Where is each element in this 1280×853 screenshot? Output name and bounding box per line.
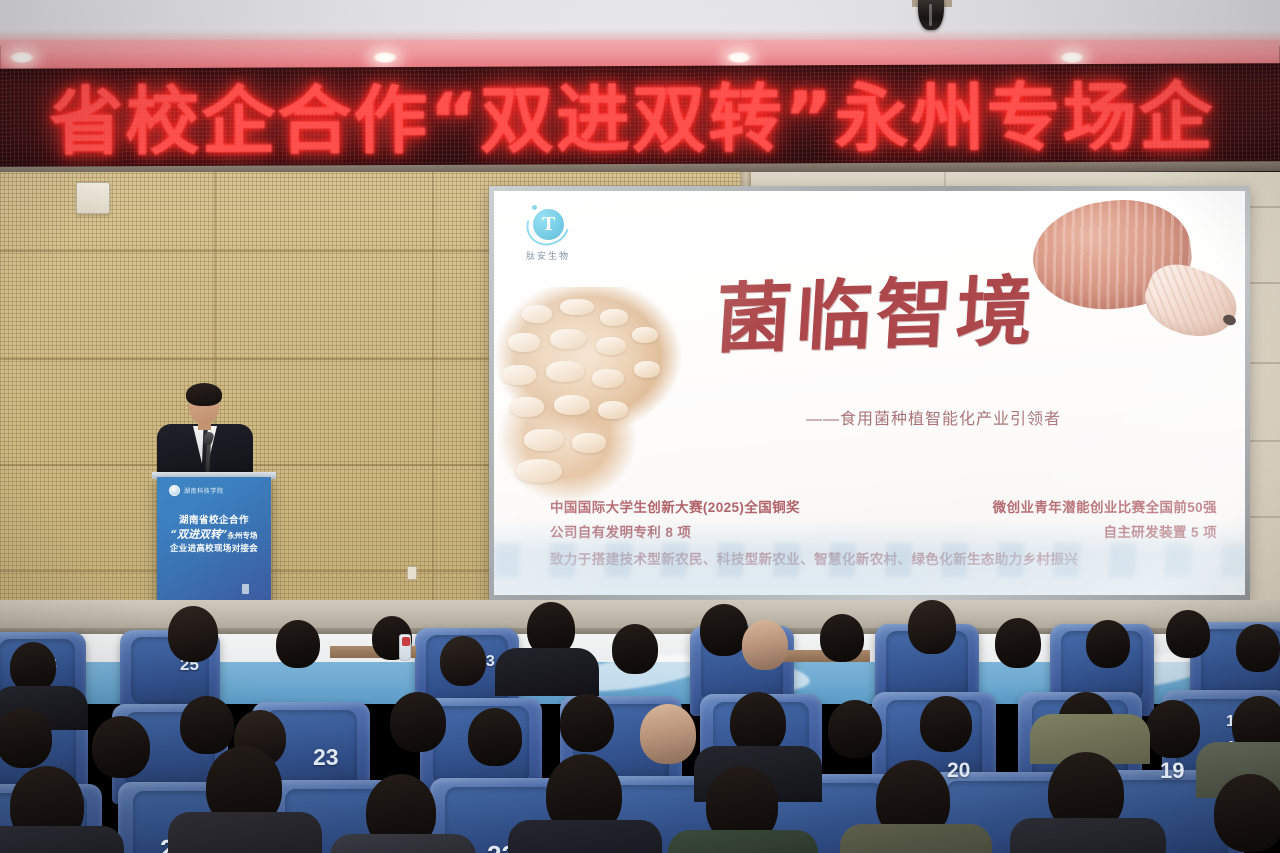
audience-head <box>908 600 956 654</box>
audience-head <box>180 696 234 754</box>
audience-shoulders <box>668 830 818 853</box>
audience-area: 26 25 23 18 22 19 23 <box>0 596 1280 853</box>
podium-university-logo: 湖南科技学院 <box>169 484 261 497</box>
company-logo: T 肽安生物 <box>512 203 584 262</box>
projection-screen: T 肽安生物 <box>494 191 1245 595</box>
podium-quote: “双进双转” <box>171 528 228 541</box>
audience-shoulders <box>495 648 599 696</box>
ceiling-speaker-icon <box>918 0 944 30</box>
audience-shoulders <box>0 826 124 853</box>
audience-head <box>742 620 788 670</box>
wall-outlet <box>407 566 417 580</box>
seat-number: 19 <box>1160 758 1184 784</box>
downlight-3 <box>726 51 752 64</box>
slide-title: 菌临智境 <box>713 265 1149 362</box>
audience-head <box>1166 610 1210 658</box>
audience-head <box>1146 700 1200 758</box>
audience-shoulders <box>1010 818 1166 853</box>
audience-head <box>730 692 786 754</box>
audience-head <box>612 624 658 674</box>
university-name: 湖南科技学院 <box>184 486 224 495</box>
achievement-right-1: 微创业青年潜能创业比赛全国前50强 <box>993 496 1217 516</box>
audience-head <box>0 708 52 768</box>
audience-head <box>92 716 150 778</box>
audience-head <box>168 606 218 662</box>
projection-screen-frame: T 肽安生物 <box>489 186 1250 600</box>
podium-line-2: “双进双转”永州专场 <box>157 526 271 542</box>
podium-line-2-suffix: 永州专场 <box>227 531 257 540</box>
audience-head <box>700 604 748 656</box>
slide-subtitle: ——食用菌种植智能化产业引领者 <box>806 405 1206 429</box>
presenter-hair <box>186 383 222 406</box>
audience-head <box>1236 624 1280 672</box>
achievement-left-1: 中国国际大学生创新大赛(2025)全国铜奖 <box>550 496 800 516</box>
audience-head <box>390 692 446 752</box>
mushroom-left-image <box>494 287 696 503</box>
downlight-1 <box>9 51 35 64</box>
audience-head <box>440 636 486 686</box>
university-crest-icon <box>169 485 180 496</box>
led-banner: 省校企合作“双进双转”永州专场企 <box>0 63 1280 173</box>
audience-head <box>276 620 320 668</box>
podium-line-3: 企业进高校现场对接会 <box>157 542 271 554</box>
company-name: 肽安生物 <box>512 249 584 262</box>
seat-number: 23 <box>313 744 339 771</box>
audience-shoulders <box>168 812 322 853</box>
led-pixel-grid <box>0 63 1280 173</box>
audience-shoulders <box>330 834 476 853</box>
logo-t-icon: T <box>526 203 570 247</box>
podium-line-1: 湖南省校企合作 <box>157 512 271 526</box>
podium-side-outlet <box>242 584 249 594</box>
water-bottle <box>399 634 411 661</box>
downlight-4 <box>1059 51 1085 64</box>
auditorium-photo: 省校企合作“双进双转”永州专场企 <box>0 0 1280 853</box>
slide-watermark-band <box>494 519 1245 595</box>
audience-head <box>468 708 522 766</box>
audience-head <box>640 704 696 764</box>
audience-head <box>920 696 972 752</box>
seat-number: 20 <box>947 759 970 783</box>
audience-head <box>1214 774 1280 852</box>
wall-junction-box <box>76 182 110 214</box>
audience-head <box>10 642 56 692</box>
audience-head <box>828 700 882 758</box>
audience-head <box>560 694 614 752</box>
audience-head <box>820 614 864 662</box>
audience-shoulders <box>840 824 992 853</box>
audience-head <box>995 618 1041 668</box>
audience-shoulders <box>508 820 662 853</box>
downlight-2 <box>372 51 398 64</box>
audience-head <box>1086 620 1130 668</box>
